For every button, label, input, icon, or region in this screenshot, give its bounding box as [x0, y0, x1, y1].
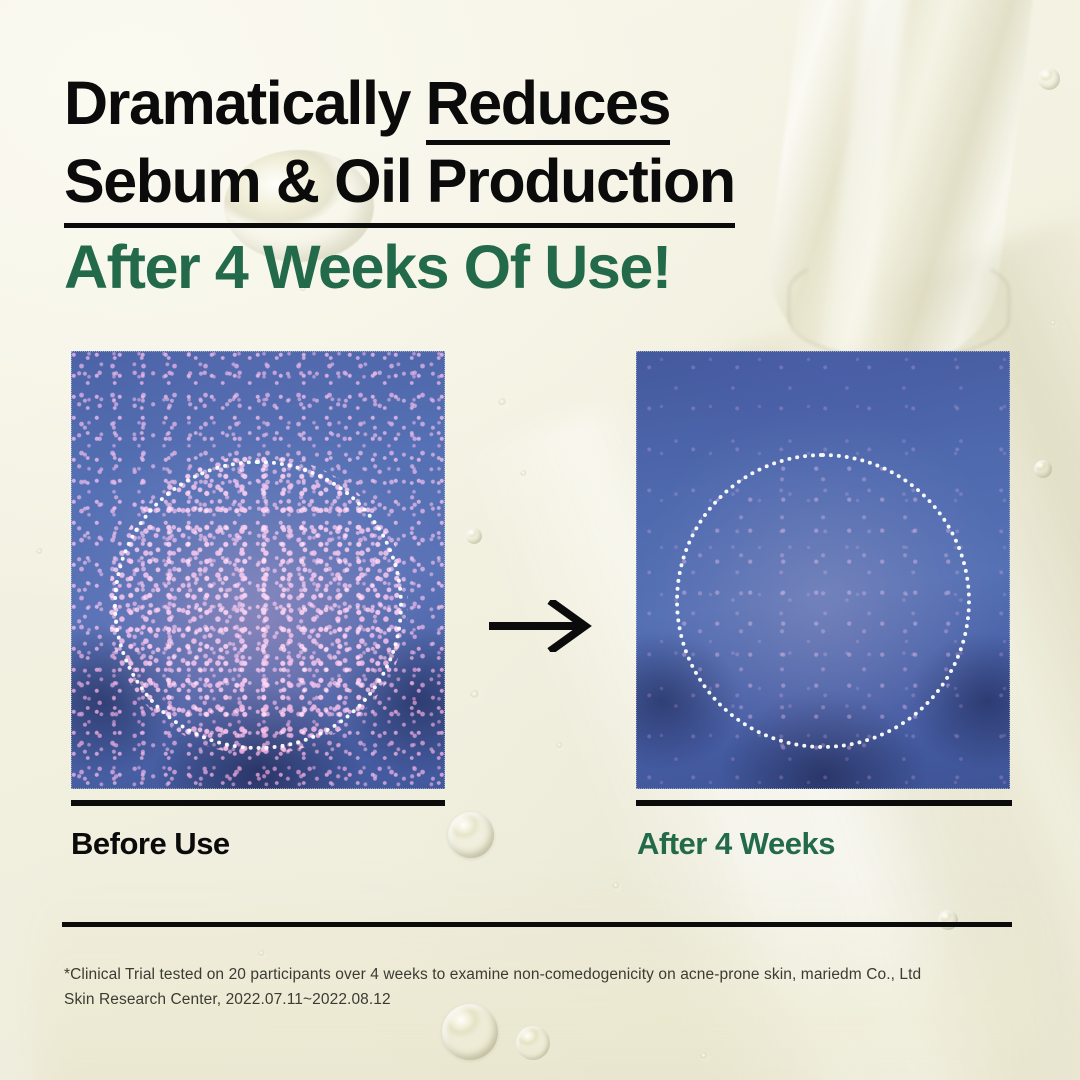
bubble-icon: [700, 1052, 710, 1062]
bubble-icon: [938, 910, 958, 930]
bubble-icon: [442, 1004, 498, 1060]
infographic-canvas: Dramatically Reduces Sebum & Oil Product…: [0, 0, 1080, 1080]
footnote-line-2: Skin Research Center, 2022.07.11~2022.08…: [64, 987, 964, 1012]
bubble-icon: [1050, 320, 1058, 328]
before-caption-rule: [71, 800, 445, 806]
measurement-circle-icon: [113, 460, 403, 750]
measurement-circle-icon: [675, 453, 971, 749]
before-caption-label: Before Use: [71, 826, 230, 862]
after-caption-label: After 4 Weeks: [637, 826, 835, 862]
headline-line-1-underlined: Reduces: [426, 69, 670, 145]
bubble-icon: [520, 470, 529, 479]
bubble-icon: [466, 528, 482, 544]
headline-block: Dramatically Reduces Sebum & Oil Product…: [64, 64, 944, 306]
headline-line-1-plain: Dramatically: [64, 69, 426, 137]
bubble-icon: [36, 548, 45, 557]
bubble-icon: [556, 742, 565, 751]
footnote-line-1: *Clinical Trial tested on 20 participant…: [64, 962, 964, 987]
bubble-icon: [448, 812, 494, 858]
bubble-icon: [516, 1026, 550, 1060]
bubble-icon: [498, 398, 509, 409]
bubble-icon: [258, 950, 267, 959]
headline-line-3: After 4 Weeks Of Use!: [64, 228, 944, 306]
arrow-right-icon: [487, 600, 593, 652]
bubble-icon: [1038, 68, 1060, 90]
footnote-block: *Clinical Trial tested on 20 participant…: [64, 962, 964, 1012]
headline-line-2-text: Sebum & Oil Production: [64, 142, 735, 228]
bubble-icon: [1034, 460, 1052, 478]
after-caption-rule: [636, 800, 1012, 806]
footer-divider: [62, 922, 1012, 927]
before-image-panel: [71, 351, 445, 789]
headline-line-2: Sebum & Oil Production: [64, 142, 944, 228]
after-image-panel: [636, 351, 1010, 789]
headline-line-1: Dramatically Reduces: [64, 64, 944, 142]
bubble-icon: [612, 882, 622, 892]
bubble-icon: [470, 690, 482, 702]
